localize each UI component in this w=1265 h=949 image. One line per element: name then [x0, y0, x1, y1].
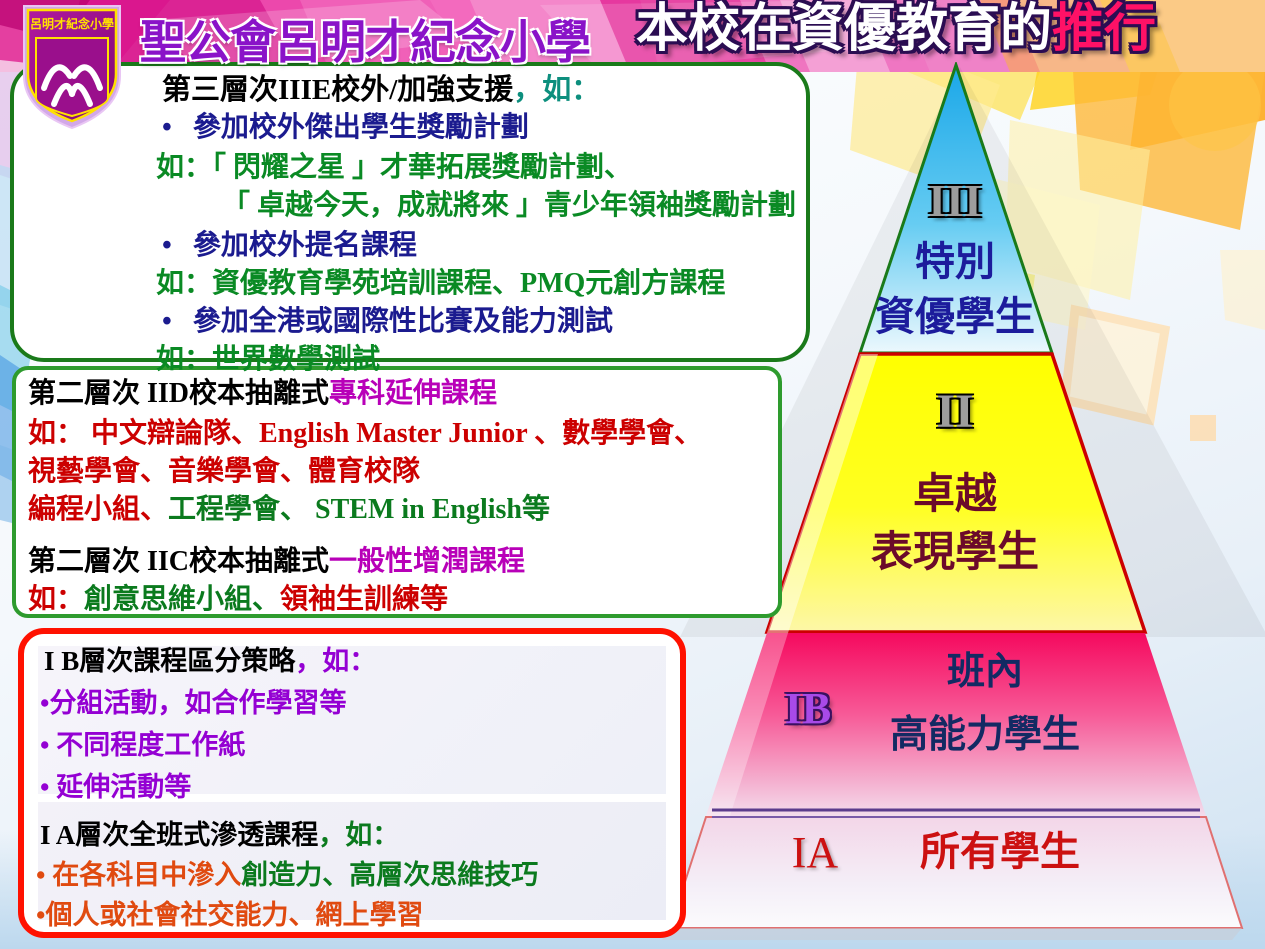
pyramid-tier-1b-level: IB [758, 684, 858, 733]
slide-canvas: III 特別 資優學生 II 卓越 表現學生 IB 班內 高能力學生 IA 所有… [0, 0, 1265, 949]
tier3-heading-suffix: ，如： [513, 74, 600, 106]
pyramid-tier-1b-name-line1: 班內 [905, 650, 1065, 693]
tier3-line-7: 如：世界數學測試 [156, 346, 380, 374]
tier1-ia-bullet-1: • 在各科目中滲入創造力、高層次思維技巧 [36, 862, 538, 889]
pyramid-tier-1b-name-line2: 高能力學生 [855, 713, 1115, 756]
tier2-iid-line-3: 編程小組、工程學會、 STEM in English等 [28, 496, 550, 524]
tier2-iic-line-1: 如：創意思維小組、領袖生訓練等 [28, 586, 448, 614]
tier2-iid-heading: 第二層次 IID校本抽離式專科延伸課程 [28, 380, 497, 408]
tier1-ib-heading: I B層次課程區分策略，如： [44, 648, 376, 675]
pyramid-tier-2-name-line1: 卓越 [885, 470, 1025, 517]
tier3-heading-main: 第三層次IIIE校外/加強支援 [162, 74, 513, 106]
pyramid-tier-3-name-line2: 資優學生 [855, 295, 1055, 340]
tier3-line-5: 如：資優教育學苑培訓課程、PMQ元創方課程 [156, 270, 725, 298]
tier3-line-6: • 參加全港或國際性比賽及能力測試 [162, 308, 613, 336]
tier2-iic-heading: 第二層次 IIC校本抽離式一般性增潤課程 [28, 548, 525, 576]
tier2-iid-line-1: 如： 中文辯論隊、English Master Junior 、數學學會、 [28, 420, 702, 448]
tier3-line-2: 如：「 閃耀之星 」才華拓展獎勵計劃、 [156, 154, 632, 182]
tier3-line-1: • 參加校外傑出學生獎勵計劃 [162, 114, 529, 142]
tier3-line-4: • 參加校外提名課程 [162, 232, 417, 260]
tier3-heading: 第三層次IIIE校外/加強支援，如： [162, 76, 600, 105]
tier1-ib-bullet-3: • 延伸活動等 [40, 774, 191, 801]
pyramid-tier-1a-name-line1: 所有學生 [890, 830, 1110, 875]
school-crest-logo: 呂明才紀念小學 [18, 2, 126, 130]
tier1-ib-bullet-1: •分組活動，如合作學習等 [40, 690, 346, 717]
tier2-iid-line-2: 視藝學會、音樂學會、體育校隊 [28, 458, 420, 486]
page-title-accent: 推行 [1052, 0, 1156, 59]
crest-text: 呂明才紀念小學 [30, 16, 114, 31]
bullet-icon: • [162, 306, 193, 337]
pyramid-tier-3-level: III [905, 175, 1005, 227]
pyramid-tier-2-name-line2: 表現學生 [845, 528, 1065, 575]
page-title: 本校在資優教育的推行 [636, 2, 1156, 57]
pyramid-tier-2-level: II [915, 385, 995, 439]
pyramid-tier-1a-level: IA [760, 828, 870, 877]
tier1-ia-heading: I A層次全班式滲透課程，如： [40, 822, 399, 849]
bullet-icon: • [162, 112, 193, 143]
bullet-icon: • [162, 230, 193, 261]
tier1-ib-bullet-2: • 不同程度工作紙 [40, 732, 245, 759]
tier1-ia-bullet-2: •個人或社會社交能力、網上學習 [36, 902, 423, 929]
tier3-line-3: 「 卓越今天，成就將來 」青少年領袖獎勵計劃 [222, 192, 796, 220]
page-title-main: 本校在資優教育的 [636, 0, 1052, 59]
pyramid-tier-3-name-line1: 特別 [880, 240, 1030, 285]
school-name-title: 聖公會呂明才紀念小學 [140, 6, 590, 72]
